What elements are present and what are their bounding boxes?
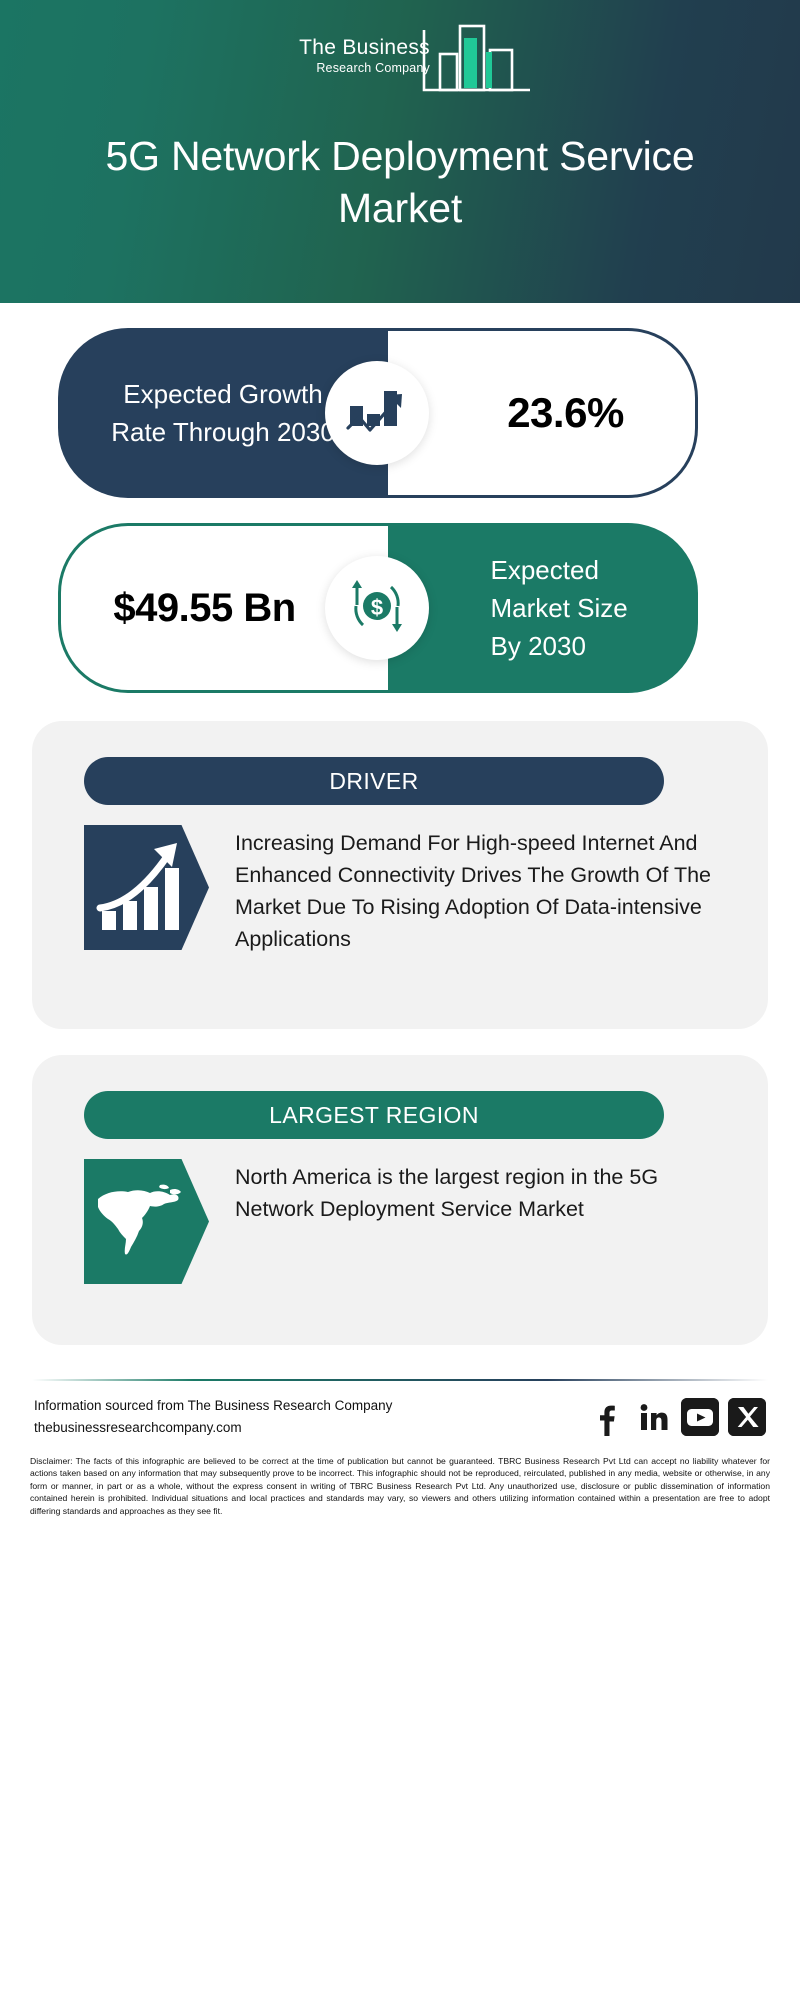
brand-logo-text: The Business Research Company: [270, 36, 430, 76]
footer-source-line1: Information sourced from The Business Re…: [34, 1395, 392, 1417]
kpi-growth-value: 23.6%: [459, 389, 624, 437]
infographic-page: The Business Research Company: [0, 0, 800, 2000]
youtube-icon[interactable]: [681, 1398, 719, 1436]
footer-divider: [32, 1379, 768, 1381]
largest-region-pill: LARGEST REGION: [84, 1091, 664, 1139]
kpi-market-size-label-block: Expected Market Size By 2030: [388, 523, 698, 693]
dollar-cycle-icon: $: [345, 575, 409, 642]
footer-source-line2[interactable]: thebusinessresearchcompany.com: [34, 1417, 392, 1439]
social-links: [587, 1398, 766, 1436]
brand-name-line1: The Business: [270, 36, 430, 60]
rising-bar-chart-icon: [84, 825, 209, 950]
kpi-market-size-value: $49.55 Bn: [110, 584, 340, 632]
largest-region-pill-label: LARGEST REGION: [269, 1102, 479, 1129]
driver-pill-label: DRIVER: [329, 768, 418, 795]
kpi-growth-value-block: 23.6%: [388, 328, 698, 498]
page-title: 5G Network Deployment Service Market: [60, 130, 740, 234]
kpi-growth-icon-bubble: [325, 361, 429, 465]
facebook-icon[interactable]: [587, 1398, 625, 1436]
north-america-map-icon: [84, 1159, 209, 1284]
kpi-market-size-card: $49.55 Bn Expected Market Size By 2030 $: [0, 523, 800, 693]
largest-region-body: North America is the largest region in t…: [84, 1159, 728, 1284]
brand-logo: The Business Research Company: [0, 22, 800, 94]
footer-disclaimer: Disclaimer: The facts of this infographi…: [30, 1455, 770, 1517]
kpi-market-size-label: Expected Market Size By 2030: [436, 551, 651, 665]
bar-chart-logo-icon: [422, 22, 532, 99]
kpi-growth-label: Expected Growth Rate Through 2030: [98, 375, 348, 451]
svg-text:$: $: [371, 595, 383, 620]
kpi-growth-rate-card: Expected Growth Rate Through 2030 23.6%: [0, 328, 800, 498]
linkedin-icon[interactable]: [634, 1398, 672, 1436]
largest-region-text: North America is the largest region in t…: [235, 1159, 728, 1284]
footer: Information sourced from The Business Re…: [0, 1379, 800, 1517]
kpi-market-size-icon-bubble: $: [325, 556, 429, 660]
brand-name-line2: Research Company: [270, 60, 430, 76]
header-banner: The Business Research Company: [0, 0, 800, 303]
footer-source: Information sourced from The Business Re…: [34, 1395, 392, 1439]
driver-panel: DRIVER Increasing Demand For High-speed …: [32, 721, 768, 1029]
driver-body: Increasing Demand For High-speed Interne…: [84, 825, 728, 955]
growth-chart-arrow-icon: [346, 384, 408, 443]
largest-region-panel: LARGEST REGION North America is the larg…: [32, 1055, 768, 1345]
x-twitter-icon[interactable]: [728, 1398, 766, 1436]
driver-text: Increasing Demand For High-speed Interne…: [235, 825, 728, 955]
driver-pill: DRIVER: [84, 757, 664, 805]
